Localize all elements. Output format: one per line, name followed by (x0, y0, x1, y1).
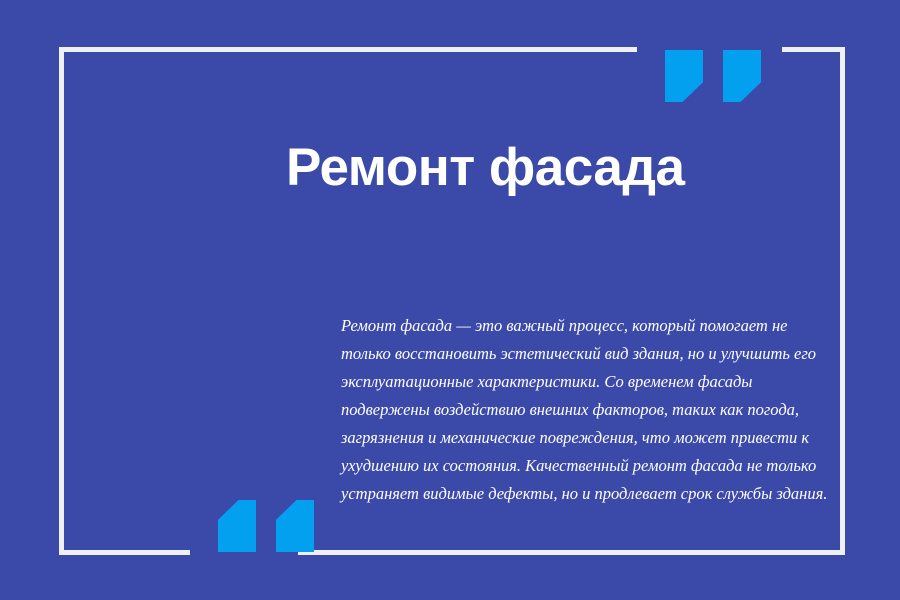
frame-border-top-left (59, 47, 637, 52)
frame-border-bottom-left (59, 550, 190, 555)
frame-border-top-right (782, 47, 845, 52)
quote-close-decoration (665, 50, 761, 102)
quote-open-icon (218, 500, 256, 552)
quote-open-icon (276, 500, 314, 552)
frame-border-left (59, 47, 64, 555)
frame-border-bottom-right (298, 550, 845, 555)
slide-body-text: Ремонт фасада — это важный процесс, кото… (341, 312, 833, 508)
quote-close-icon (723, 50, 761, 102)
quote-close-icon (665, 50, 703, 102)
frame-border-right (840, 47, 845, 555)
slide-canvas: Ремонт фасада Ремонт фасада — это важный… (0, 0, 900, 600)
quote-open-decoration (218, 500, 314, 552)
slide-title: Ремонт фасада (286, 138, 806, 197)
